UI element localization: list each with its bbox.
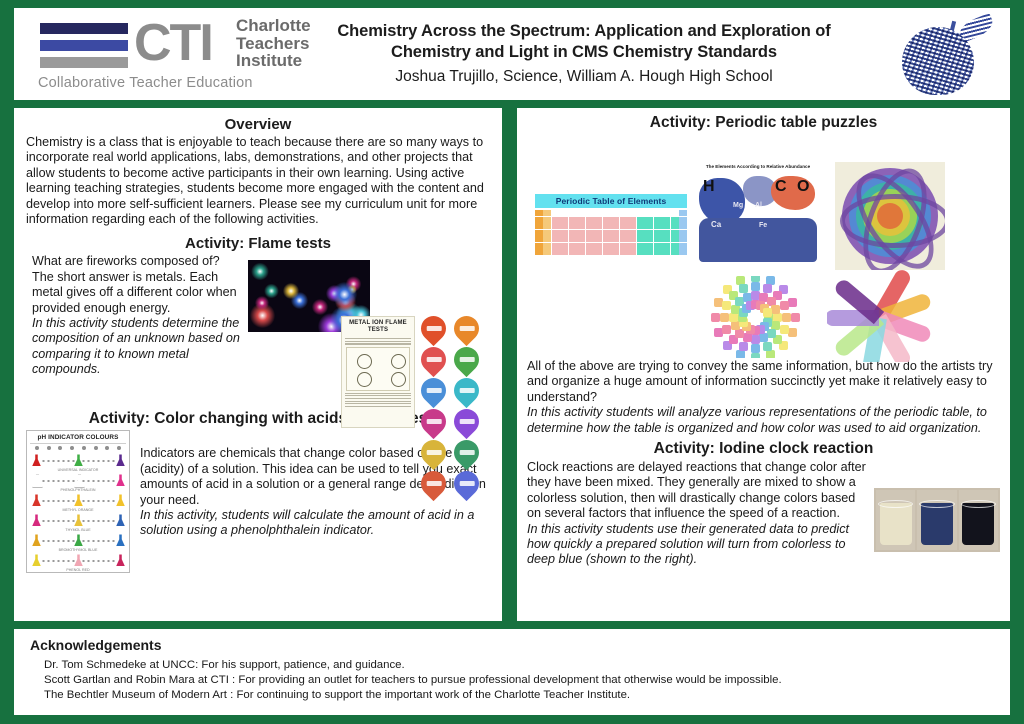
- flame-tests-body: What are fireworks composed of? The shor…: [32, 254, 242, 316]
- cti-bar-blue: [40, 40, 128, 51]
- iodine-clock-italic: In this activity students use their gene…: [527, 522, 866, 568]
- abundance-letter-C: C: [775, 178, 787, 196]
- acids-bases-italic: In this activity, students will calculat…: [140, 508, 490, 539]
- iodine-clock-beakers-photo: [874, 488, 1000, 552]
- cti-logo: CTI Charlotte Teachers Institute Collabo…: [30, 11, 280, 97]
- abundance-letter-Mg: Mg: [733, 202, 743, 209]
- cti-logo-letters: CTI: [134, 17, 212, 69]
- ph-poster-row-label: BROMOTHYMOL BLUE: [30, 548, 126, 552]
- acknowledgement-line: The Bechtler Museum of Modern Art : For …: [30, 688, 994, 703]
- periodic-table-classic-caption: Periodic Table of Elements: [535, 194, 687, 208]
- abundance-letter-Al: Al: [755, 202, 762, 209]
- ph-poster-title: pH INDICATOR COLOURS: [30, 434, 126, 444]
- relative-abundance-caption: The Elements According to Relative Abund…: [697, 162, 819, 169]
- ph-poster-row: BROMOTHYMOL BLUE: [30, 533, 126, 552]
- elements-relative-abundance-image: The Elements According to Relative Abund…: [697, 162, 819, 272]
- cti-logo-bars: [40, 23, 128, 74]
- flame-tests-italic: In this activity students determine the …: [32, 316, 242, 378]
- metal-ion-chart-text-lines-2: [342, 393, 414, 408]
- ph-poster-row-label: THYMOL BLUE: [30, 528, 126, 532]
- ph-poster-row-label: PHENOL RED: [30, 568, 126, 572]
- flame-color-droplets: [418, 314, 482, 426]
- beaker-deep-blue: [959, 490, 998, 550]
- poster-title-block: Chemistry Across the Spectrum: Applicati…: [280, 21, 888, 87]
- acknowledgements-panel: Acknowledgements Dr. Tom Schmedeke at UN…: [14, 629, 1010, 715]
- metal-ion-atom-diagram: [346, 347, 410, 391]
- ph-poster-row-label: UNIVERSAL INDICATOR: [30, 468, 126, 472]
- abundance-letter-Fe: Fe: [759, 222, 767, 229]
- periodic-table-italic: In this activity students will analyze v…: [527, 405, 1000, 436]
- poster-author: Joshua Trujillo, Science, William A. Hou…: [286, 66, 882, 87]
- cti-word-institute: Institute: [236, 52, 311, 70]
- overview-title: Overview: [26, 116, 490, 133]
- overview-body: Chemistry is a class that is enjoyable t…: [26, 135, 490, 227]
- cti-logo-tagline: Collaborative Teacher Education: [38, 75, 253, 91]
- ph-poster-rows: UNIVERSAL INDICATORPHENOLPHTHALEINMETHYL…: [30, 453, 126, 572]
- periodic-table-classic-image: Periodic Table of Elements: [535, 194, 687, 290]
- apple-word-cloud-icon: [888, 11, 998, 97]
- cti-word-teachers: Teachers: [236, 35, 311, 53]
- iodine-clock-body: Clock reactions are delayed reactions th…: [527, 460, 866, 522]
- overview-section: Overview Chemistry is a class that is en…: [14, 108, 502, 227]
- periodic-table-orbital-sphere-image: [835, 162, 945, 270]
- ph-poster-row: PHENOLPHTHALEIN: [30, 473, 126, 492]
- metal-ion-flame-tests-chart: METAL ION FLAME TESTS: [341, 316, 415, 428]
- abundance-letter-H: H: [703, 178, 715, 196]
- periodic-table-classic-grid: [535, 210, 687, 255]
- iodine-clock-title: Activity: Iodine clock reaction: [517, 440, 1010, 458]
- ph-poster-row: THYMOL BLUE: [30, 513, 126, 532]
- apple-body: [902, 27, 974, 95]
- periodic-table-spiral-fan-image: [827, 270, 959, 362]
- beaker-blue: [917, 490, 956, 550]
- periodic-table-image-group: Periodic Table of Elements The Elements …: [517, 134, 1010, 359]
- metal-ion-chart-title: METAL ION FLAME TESTS: [342, 317, 414, 336]
- acknowledgement-line: Scott Gartlan and Robin Mara at CTI : Fo…: [30, 673, 994, 688]
- acknowledgements-title: Acknowledgements: [30, 637, 994, 653]
- ph-poster-row: UNIVERSAL INDICATOR: [30, 453, 126, 472]
- ph-poster-row-label: PHENOLPHTHALEIN: [30, 488, 126, 492]
- periodic-table-body: All of the above are trying to convey th…: [527, 359, 1000, 405]
- flame-tests-text: What are fireworks composed of? The shor…: [24, 254, 242, 377]
- cti-word-charlotte: Charlotte: [236, 17, 311, 35]
- cti-logo-wordmark: Charlotte Teachers Institute: [236, 17, 311, 70]
- poster-title-line1: Chemistry Across the Spectrum: Applicati…: [286, 21, 882, 42]
- poster-header: CTI Charlotte Teachers Institute Collabo…: [14, 8, 1010, 100]
- flame-tests-title: Activity: Flame tests: [24, 235, 492, 252]
- periodic-table-title: Activity: Periodic table puzzles: [517, 114, 1010, 132]
- iodine-clock-text: Clock reactions are delayed reactions th…: [527, 460, 866, 568]
- flame-tests-images: METAL ION FLAME TESTS: [248, 254, 492, 404]
- metal-ion-chart-text-lines: [342, 338, 414, 344]
- cti-bar-navy: [40, 23, 128, 34]
- relative-abundance-artwork: H C O Mg Al Ca Fe: [699, 174, 817, 260]
- ph-indicator-colours-poster: pH INDICATOR COLOURS UNIVERSAL INDICATOR…: [26, 430, 130, 573]
- right-column-panel: Activity: Periodic table puzzles Periodi…: [517, 108, 1010, 621]
- poster-title-line2: Chemistry and Light in CMS Chemistry Sta…: [286, 42, 882, 63]
- iodine-clock-section: Activity: Iodine clock reaction Clock re…: [517, 440, 1010, 568]
- beaker-colorless: [876, 490, 915, 550]
- periodic-table-circular-image: [702, 276, 812, 358]
- ph-poster-row: METHYL ORANGE: [30, 493, 126, 512]
- acknowledgement-line: Dr. Tom Schmedeke at UNCC: For his suppo…: [30, 658, 994, 673]
- abundance-letter-O: O: [797, 178, 809, 196]
- ph-poster-dot-scale: [31, 446, 125, 450]
- periodic-table-section: Activity: Periodic table puzzles Periodi…: [517, 114, 1010, 436]
- abundance-letter-Ca: Ca: [711, 220, 721, 229]
- poster-canvas: CTI Charlotte Teachers Institute Collabo…: [0, 0, 1024, 724]
- flame-tests-section: Activity: Flame tests What are fireworks…: [14, 235, 502, 404]
- cti-bar-gray: [40, 57, 128, 68]
- ph-poster-row-label: METHYL ORANGE: [30, 508, 126, 512]
- left-column-panel: Overview Chemistry is a class that is en…: [14, 108, 502, 621]
- ph-poster-row: PHENOL RED: [30, 553, 126, 572]
